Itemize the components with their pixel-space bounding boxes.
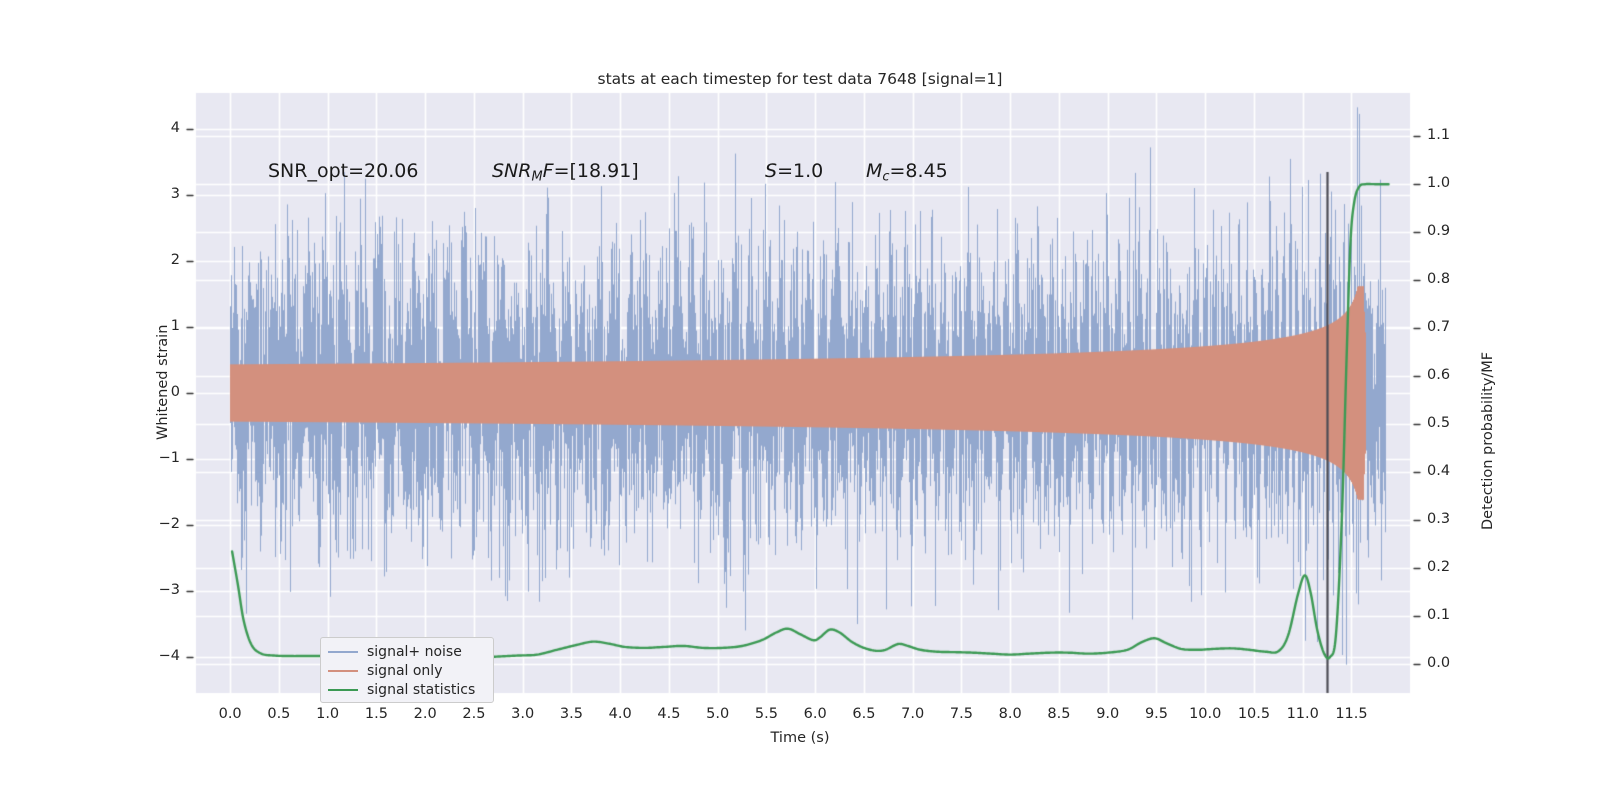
y-tick-label-left: 4 [140,120,180,136]
y-axis-left-label: Whitened strain [155,325,171,440]
annotation-s-stat: S=1.0 [765,160,823,182]
x-tick-label: 11.5 [1328,706,1374,722]
chart-title: stats at each timestep for test data 764… [0,70,1600,88]
x-tick-label: 2.0 [402,706,448,722]
x-tick-label: 4.0 [597,706,643,722]
y-tick-label-right: 0.2 [1427,559,1471,575]
y-tick-label-left: 3 [140,186,180,202]
chart-plot-canvas [0,0,1600,800]
annotation-chirp-mass: Mc=8.45 [866,160,948,185]
legend-item-signal-statistics[interactable]: signal statistics [328,681,486,699]
legend-swatch-signal-statistics [328,689,358,691]
x-tick-label: 8.0 [987,706,1033,722]
y-tick-label-left: 1 [140,318,180,334]
y-tick-label-right: 0.5 [1427,415,1471,431]
legend-swatch-signal-only [328,670,358,672]
y-tick-label-right: 0.1 [1427,607,1471,623]
x-tick-label: 10.5 [1231,706,1277,722]
y-tick-label-right: 1.0 [1427,175,1471,191]
y-tick-label-left: 2 [140,252,180,268]
x-tick-label: 5.5 [743,706,789,722]
chart-legend[interactable]: signal+ noise signal only signal statist… [320,637,494,703]
x-tick-label: 6.5 [841,706,887,722]
y-tick-label-right: 0.6 [1427,367,1471,383]
x-tick-label: 3.0 [500,706,546,722]
annotation-snr-opt: SNR_opt=20.06 [268,160,418,182]
x-tick-label: 10.0 [1182,706,1228,722]
x-tick-label: 0.5 [256,706,302,722]
x-tick-label: 2.5 [451,706,497,722]
y-tick-label-left: −4 [140,648,180,664]
x-tick-label: 3.5 [548,706,594,722]
x-tick-label: 0.0 [207,706,253,722]
y-tick-label-right: 0.0 [1427,655,1471,671]
figure-container: stats at each timestep for test data 764… [0,0,1600,800]
x-tick-label: 9.0 [1085,706,1131,722]
x-tick-label: 7.0 [890,706,936,722]
legend-label-signal-statistics: signal statistics [367,682,475,698]
x-tick-label: 1.0 [305,706,351,722]
y-tick-label-right: 0.7 [1427,319,1471,335]
x-tick-label: 9.5 [1133,706,1179,722]
y-axis-right-label: Detection probability/MF [1480,352,1496,530]
x-tick-label: 11.0 [1280,706,1326,722]
annotation-snr-mf: SNRMF=[18.91] [492,160,639,185]
x-tick-label: 8.5 [1036,706,1082,722]
y-tick-label-right: 0.8 [1427,271,1471,287]
x-tick-label: 6.0 [792,706,838,722]
y-tick-label-right: 1.1 [1427,127,1471,143]
y-tick-label-left: 0 [140,384,180,400]
legend-item-signal-only[interactable]: signal only [328,662,486,680]
x-axis-label: Time (s) [0,730,1600,746]
y-tick-label-right: 0.3 [1427,511,1471,527]
y-tick-label-left: −2 [140,516,180,532]
legend-swatch-signal-noise [328,651,358,653]
y-tick-label-left: −3 [140,582,180,598]
y-tick-label-right: 0.4 [1427,463,1471,479]
legend-item-signal-noise[interactable]: signal+ noise [328,643,486,661]
y-tick-label-right: 0.9 [1427,223,1471,239]
legend-label-signal-noise: signal+ noise [367,644,462,660]
x-tick-label: 7.5 [938,706,984,722]
x-tick-label: 4.5 [646,706,692,722]
legend-label-signal-only: signal only [367,663,442,679]
x-tick-label: 5.0 [695,706,741,722]
y-tick-label-left: −1 [140,450,180,466]
x-tick-label: 1.5 [353,706,399,722]
